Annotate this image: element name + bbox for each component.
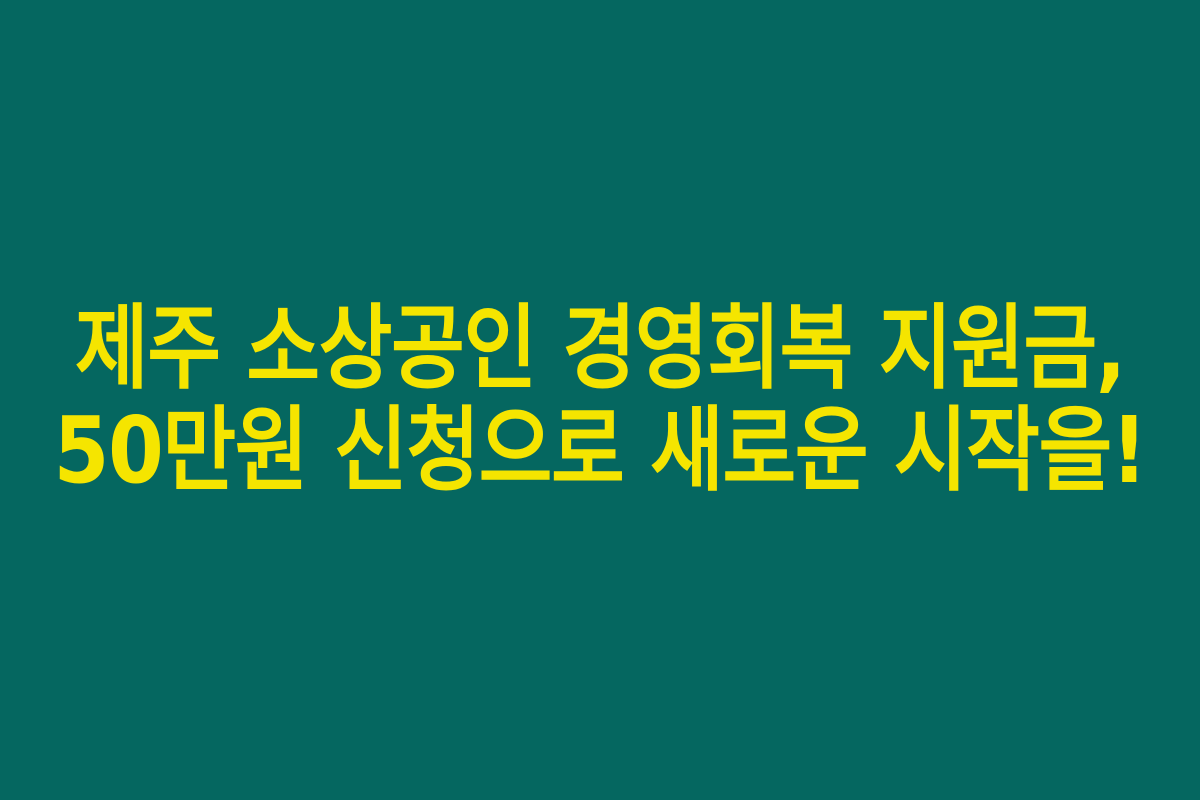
promo-banner: 제주 소상공인 경영회복 지원금, 50만원 신청으로 새로운 시작을! <box>0 0 1200 800</box>
headline-line-1: 제주 소상공인 경영회복 지원금, <box>42 297 1158 402</box>
headline-line-2: 50만원 신청으로 새로운 시작을! <box>42 399 1158 504</box>
headline-block: 제주 소상공인 경영회복 지원금, 50만원 신청으로 새로운 시작을! <box>0 300 1200 500</box>
